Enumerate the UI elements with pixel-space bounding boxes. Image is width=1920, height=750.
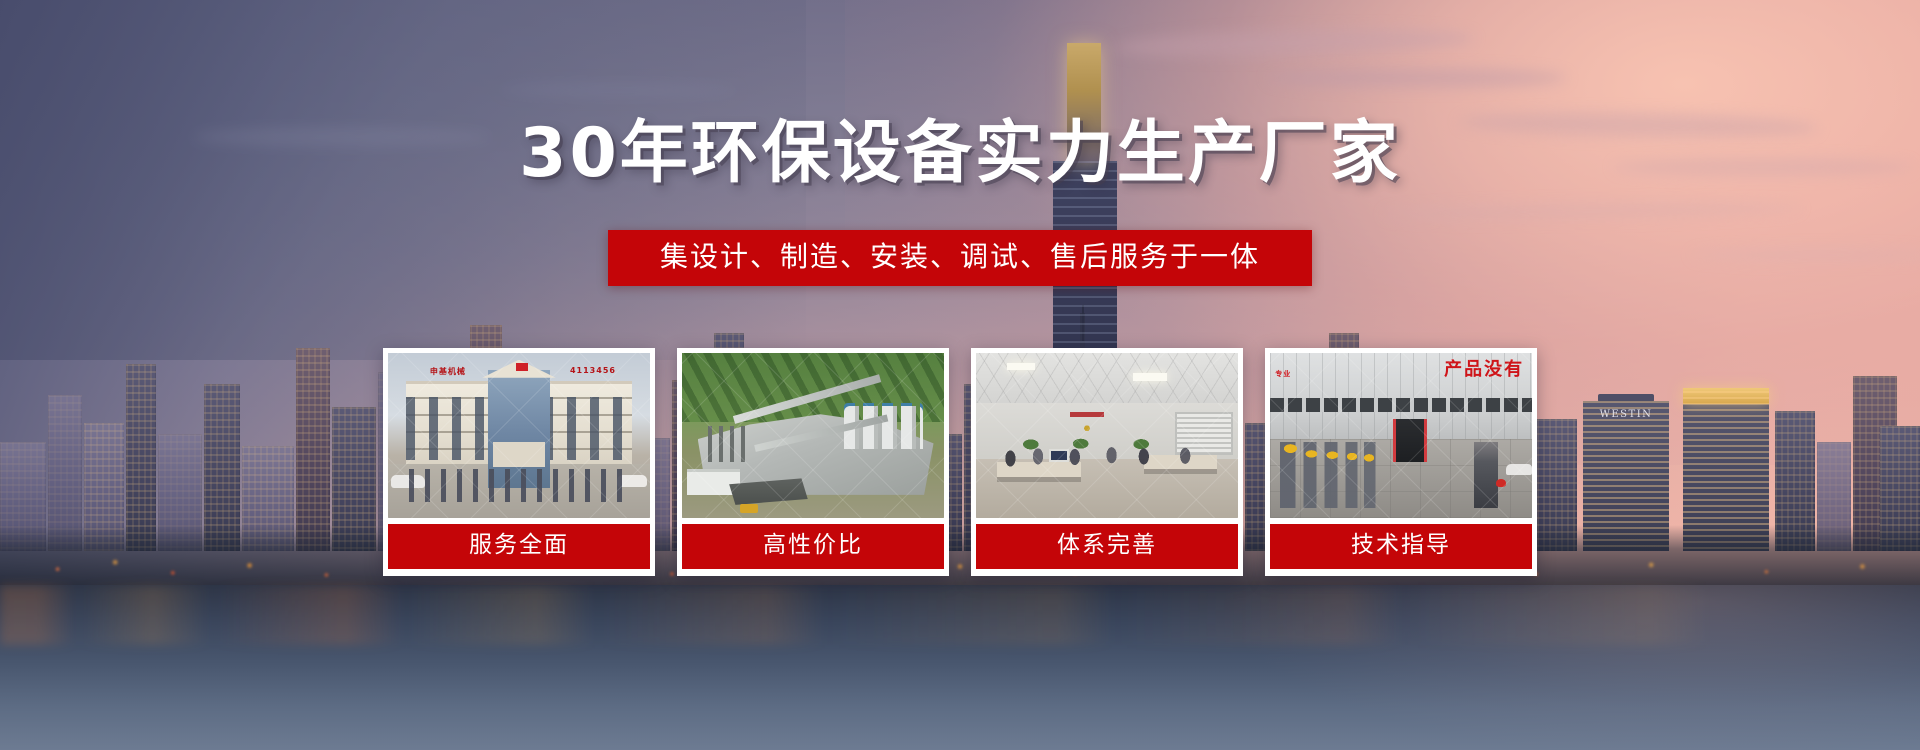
feature-card-list: 申基机械 4113456 服务全面 [0, 348, 1920, 576]
red-helmet-icon [1496, 479, 1506, 487]
promo-banner: WESTIN 30年环保设备实力生产厂家 集设计、制造、安装、调试、售后服务于一… [0, 0, 1920, 750]
subtitle-badge: 集设计、制造、安装、调试、售后服务于一体 [608, 230, 1312, 286]
cloud [1267, 68, 1567, 88]
feature-card[interactable]: 申基机械 4113456 服务全面 [383, 348, 655, 576]
building-sign-text: 申基机械 [430, 366, 466, 377]
feature-card-caption: 技术指导 [1270, 524, 1532, 569]
wall-logo-icon [1070, 412, 1104, 434]
workshop-workers-training-photo: 专业 产品没有 [1270, 353, 1532, 518]
factory-sign-text: 产品没有 [1444, 361, 1524, 379]
feature-card[interactable]: 高性价比 [677, 348, 949, 576]
office-interior-staff-photo [976, 353, 1238, 518]
aerial-factory-plant-photo [682, 353, 944, 518]
feature-card[interactable]: 体系完善 [971, 348, 1243, 576]
factory-slogan-text: 专业 [1275, 370, 1291, 379]
feature-card-caption: 服务全面 [388, 524, 650, 569]
company-headquarters-photo: 申基机械 4113456 [388, 353, 650, 518]
water-sunset-glow [1056, 585, 1920, 750]
feature-card[interactable]: 专业 产品没有 技术指导 [1265, 348, 1537, 576]
flag-icon [516, 363, 528, 371]
subtitle-container: 集设计、制造、安装、调试、售后服务于一体 [0, 230, 1920, 286]
cloud [499, 83, 739, 97]
page-title: 30年环保设备实力生产厂家 [519, 120, 1401, 188]
building-phone-text: 4113456 [570, 366, 616, 375]
feature-card-caption: 体系完善 [976, 524, 1238, 569]
headline-container: 30年环保设备实力生产厂家 [0, 120, 1920, 188]
feature-card-caption: 高性价比 [682, 524, 944, 569]
